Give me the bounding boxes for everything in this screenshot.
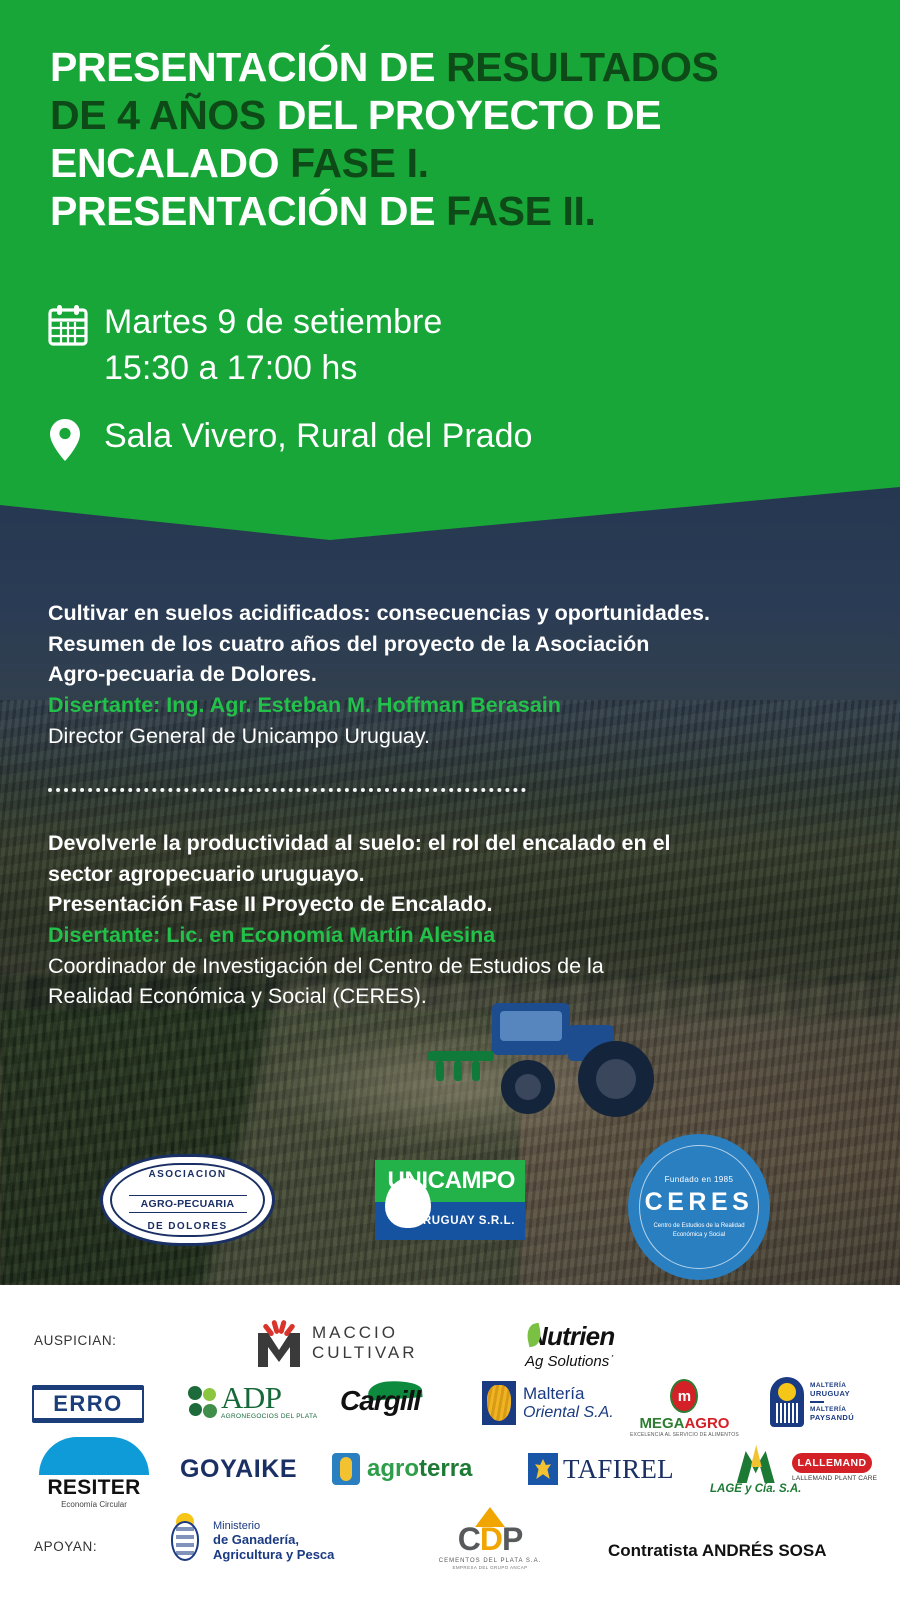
malteria-uy-line-4: PAYSANDÚ bbox=[810, 1413, 854, 1422]
sponsor-row-3: RESITER Economía Circular GOYAIKE agrote… bbox=[0, 1443, 900, 1499]
asociacion-agropecuaria-dolores-logo: ASOCIACION AGRO-PECUARIA DE DOLORES bbox=[100, 1154, 275, 1246]
talk-2-title-line-1: Devolverle la productividad al suelo: el… bbox=[48, 828, 854, 859]
title-line-3-highlight: FASE I. bbox=[290, 140, 428, 186]
unicampo-logo: UNICAMPO URUGUAY S.R.L. bbox=[375, 1160, 525, 1240]
mgap-logo: Ministerio de Ganadería, Agricultura y P… bbox=[165, 1513, 334, 1569]
cdp-name-c: C bbox=[458, 1521, 480, 1557]
megaagro-name-a: MEGA bbox=[639, 1415, 684, 1432]
talk-2-title-line-2: sector agropecuario uruguayo. bbox=[48, 859, 854, 890]
organizer-logos: ASOCIACION AGRO-PECUARIA DE DOLORES UNIC… bbox=[0, 1140, 900, 1275]
lallemand-name: LALLEMAND bbox=[792, 1453, 872, 1473]
cdp-sub-2: EMPRESA DEL GRUPO ANCAP bbox=[432, 1565, 548, 1570]
malteria-uy-line-2: URUGUAY bbox=[810, 1389, 854, 1398]
talk-1-speaker: Disertante: Ing. Agr. Esteban M. Hoffman… bbox=[48, 690, 854, 721]
talk-2-title-line-3: Presentación Fase II Proyecto de Encalad… bbox=[48, 889, 854, 920]
maccio-cultivar-logo: MACCIO CULTIVAR bbox=[258, 1319, 418, 1367]
nutrien-name-wrap: Nutrien bbox=[525, 1321, 614, 1352]
resiter-logo: RESITER Economía Circular bbox=[32, 1437, 156, 1509]
uruguay-coat-of-arms-icon bbox=[165, 1513, 205, 1569]
aapd-arc-top: ASOCIACION bbox=[103, 1169, 272, 1180]
sheep-icon bbox=[385, 1178, 431, 1228]
tafirel-name: TAFIREL bbox=[563, 1454, 674, 1485]
ceres-name: CERES bbox=[645, 1188, 754, 1217]
event-poster: PRESENTACIÓN DE RESULTADOS DE 4 AÑOS DEL… bbox=[0, 0, 900, 1600]
resiter-name: RESITER bbox=[32, 1476, 156, 1500]
nutrien-name: Nutrien bbox=[529, 1321, 614, 1351]
event-place-row: Sala Vivero, Rural del Prado bbox=[48, 414, 532, 467]
talk-1-title-line-1: Cultivar en suelos acidificados: consecu… bbox=[48, 598, 854, 629]
event-date-text: Martes 9 de setiembre 15:30 a 17:00 hs bbox=[104, 300, 442, 392]
calendar-icon bbox=[48, 300, 104, 351]
title-line-1-highlight: RESULTADOS bbox=[446, 44, 718, 90]
event-date-row: Martes 9 de setiembre 15:30 a 17:00 hs bbox=[48, 300, 532, 392]
title-line-2-highlight: DE 4 AÑOS bbox=[50, 92, 266, 138]
cdp-name: CDP bbox=[432, 1523, 548, 1555]
tafirel-leaf-icon bbox=[528, 1453, 558, 1485]
page-title: PRESENTACIÓN DE RESULTADOS DE 4 AÑOS DEL… bbox=[50, 44, 870, 236]
corn-icon bbox=[332, 1453, 360, 1485]
agroterra-logo: agroterra bbox=[332, 1453, 472, 1485]
title-line-3: ENCALADO FASE I. bbox=[50, 140, 870, 188]
malteria-shield-icon bbox=[770, 1377, 804, 1427]
adp-name: ADP bbox=[221, 1383, 317, 1412]
location-pin-icon bbox=[48, 414, 104, 467]
talk-2-role-line-2: Realidad Económica y Social (CERES). bbox=[48, 981, 854, 1011]
cdp-sub-1: CEMENTOS DEL PLATA S.A. bbox=[432, 1558, 548, 1564]
title-line-4-white: PRESENTACIÓN DE bbox=[50, 188, 446, 234]
talk-2-speaker: Disertante: Lic. en Economía Martín Ales… bbox=[48, 920, 854, 951]
aapd-mid-text: AGRO-PECUARIA bbox=[129, 1195, 247, 1213]
section-divider bbox=[48, 788, 526, 792]
malteria-uy-line-1: MALTERÍA bbox=[810, 1382, 854, 1389]
megaagro-badge-icon: m bbox=[670, 1379, 698, 1413]
aapd-arc-bottom: DE DOLORES bbox=[103, 1221, 272, 1232]
adp-logo: ADP AGRONEGOCIOS DEL PLATA bbox=[188, 1383, 317, 1420]
cdp-name-d: D bbox=[480, 1521, 502, 1557]
malteria-oriental-line-2: Oriental S.A. bbox=[523, 1404, 614, 1422]
title-line-3-white: ENCALADO bbox=[50, 140, 290, 186]
nutrien-sub: Ag Solutions˙ bbox=[525, 1353, 614, 1370]
agroterra-name: agroterra bbox=[367, 1455, 472, 1483]
cdp-logo: CDP CEMENTOS DEL PLATA S.A. EMPRESA DEL … bbox=[432, 1507, 548, 1570]
title-line-4-highlight: FASE II. bbox=[446, 188, 595, 234]
sponsor-row-1: MACCIO CULTIVAR Nutrien Ag Solutions˙ bbox=[0, 1305, 900, 1367]
talk-2-role-line-1: Coordinador de Investigación del Centro … bbox=[48, 951, 854, 981]
erro-name: ERRO bbox=[32, 1390, 144, 1418]
lallemand-logo: LALLEMAND LALLEMAND PLANT CARE bbox=[792, 1453, 877, 1482]
agroterra-name-b: terra bbox=[419, 1455, 472, 1482]
sponsors-section: AUSPICIAN: APOYAN: MACCIO CULTIVAR Nutri… bbox=[0, 1285, 900, 1600]
title-line-1-white: PRESENTACIÓN DE bbox=[50, 44, 446, 90]
maccio-line-1: MACCIO bbox=[312, 1323, 418, 1343]
megaagro-name: MEGAAGRO bbox=[630, 1415, 739, 1432]
lage-mark-icon bbox=[737, 1447, 775, 1483]
mgap-line-3: Agricultura y Pesca bbox=[213, 1547, 334, 1562]
megaagro-name-b: AGRO bbox=[684, 1415, 729, 1432]
cargill-logo: Cargill bbox=[340, 1385, 420, 1417]
title-line-2: DE 4 AÑOS DEL PROYECTO DE bbox=[50, 92, 870, 140]
contratista-andres-sosa: Contratista ANDRÉS SOSA bbox=[608, 1541, 827, 1561]
goyaike-name: GOYAIKE bbox=[180, 1455, 297, 1484]
mgap-line-1: Ministerio bbox=[213, 1520, 334, 1532]
resiter-arc-icon bbox=[39, 1437, 149, 1475]
maccio-mark-icon bbox=[258, 1319, 300, 1367]
ceres-founded: Fundado en 1985 bbox=[665, 1175, 734, 1184]
sponsor-row-2: ERRO ADP AGRONEGOCIOS DEL PLATA Cargill … bbox=[0, 1377, 900, 1435]
cdp-name-p: P bbox=[502, 1521, 522, 1557]
malteria-oriental-line-1: Maltería bbox=[523, 1384, 614, 1404]
event-place-text: Sala Vivero, Rural del Prado bbox=[104, 414, 532, 460]
nutrien-logo: Nutrien Ag Solutions˙ bbox=[525, 1321, 614, 1370]
title-line-4: PRESENTACIÓN DE FASE II. bbox=[50, 188, 870, 236]
talk-block-2: Devolverle la productividad al suelo: el… bbox=[48, 828, 854, 1011]
adp-sub: AGRONEGOCIOS DEL PLATA bbox=[221, 1413, 317, 1420]
sponsor-row-4: Ministerio de Ganadería, Agricultura y P… bbox=[0, 1507, 900, 1589]
event-meta: Martes 9 de setiembre 15:30 a 17:00 hs S… bbox=[48, 300, 532, 467]
tafirel-logo: TAFIREL bbox=[528, 1453, 674, 1485]
agroterra-name-a: agro bbox=[367, 1455, 419, 1482]
lallemand-sub: LALLEMAND PLANT CARE bbox=[792, 1475, 877, 1482]
mgap-line-2: de Ganadería, bbox=[213, 1532, 334, 1547]
adp-dots-icon bbox=[188, 1386, 218, 1420]
megaagro-logo: m MEGAAGRO EXCELENCIA AL SERVICIO DE ALI… bbox=[630, 1379, 739, 1438]
cargill-name: Cargill bbox=[340, 1385, 420, 1417]
title-line-1: PRESENTACIÓN DE RESULTADOS bbox=[50, 44, 870, 92]
talk-1-role-line-1: Director General de Unicampo Uruguay. bbox=[48, 721, 854, 751]
goyaike-logo: GOYAIKE bbox=[180, 1455, 297, 1484]
talk-1-title-line-2: Resumen de los cuatro años del proyecto … bbox=[48, 629, 854, 660]
wheat-badge-icon bbox=[482, 1381, 516, 1425]
talk-block-1: Cultivar en suelos acidificados: consecu… bbox=[48, 598, 854, 751]
talk-1-title-line-3: Agro-pecuaria de Dolores. bbox=[48, 659, 854, 690]
erro-logo: ERRO bbox=[32, 1385, 144, 1423]
malteria-uy-line-3: MALTERÍA bbox=[810, 1406, 854, 1413]
malteria-oriental-logo: Maltería Oriental S.A. bbox=[482, 1381, 614, 1425]
malteria-uruguay-paysandu-logo: MALTERÍA URUGUAY MALTERÍA PAYSANDÚ bbox=[770, 1377, 854, 1427]
maccio-line-2: CULTIVAR bbox=[312, 1343, 418, 1363]
lage-y-cia-logo: LAGE y Cía. S.A. bbox=[710, 1447, 801, 1495]
megaagro-tagline: EXCELENCIA AL SERVICIO DE ALIMENTOS bbox=[630, 1432, 739, 1438]
ceres-logo: Fundado en 1985 CERES Centro de Estudios… bbox=[628, 1134, 770, 1280]
event-date-line-1: Martes 9 de setiembre bbox=[104, 300, 442, 346]
title-line-2-white: DEL PROYECTO DE bbox=[266, 92, 661, 138]
event-time-line: 15:30 a 17:00 hs bbox=[104, 346, 442, 392]
lage-name: LAGE y Cía. S.A. bbox=[710, 1483, 801, 1495]
ceres-subtitle: Centro de Estudios de la Realidad Económ… bbox=[653, 1222, 745, 1240]
